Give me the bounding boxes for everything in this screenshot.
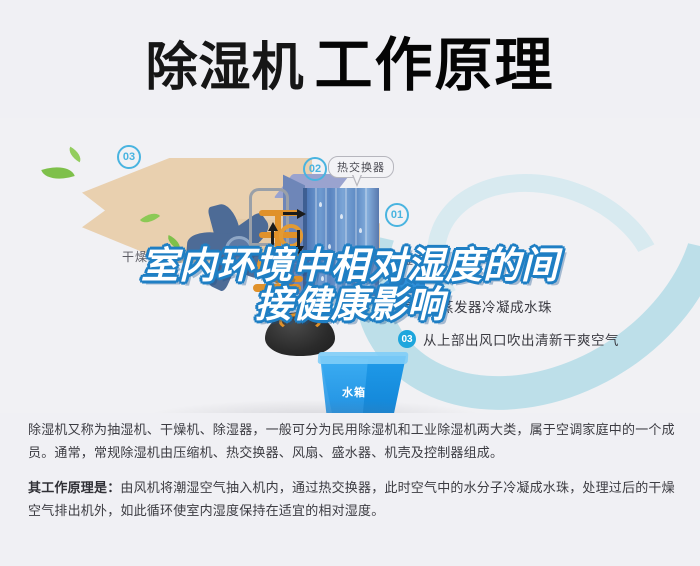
article-page: 除湿机 工作原理 [0, 0, 700, 566]
dehumidifier-diagram: 水箱 03 02 01 热交换器 干燥空气 潮湿空气 室内环境中相对湿度的间 接… [0, 118, 700, 413]
page-title-subject: 除湿机 [145, 25, 304, 100]
step-badge-01-diagram: 01 [385, 203, 409, 227]
overlay-headline-line2: 接健康影响 [0, 285, 700, 324]
paragraph-principle-rest: 由风机将潮湿空气抽入机内，通过热交换器，此时空气中的水分子冷凝成水珠，处理过后的… [28, 480, 675, 518]
machine-shadow [150, 400, 480, 413]
overlay-headline: 室内环境中相对湿度的间 接健康影响 [0, 246, 700, 324]
page-title: 除湿机 工作原理 [145, 18, 554, 102]
step-item: 03 从上部出风口吹出清新干爽空气 [398, 329, 698, 349]
page-title-topic: 工作原理 [315, 18, 555, 102]
page-header: 除湿机 工作原理 [0, 0, 700, 120]
step-text: 从上部出风口吹出清新干爽空气 [423, 329, 619, 349]
step-badge-02-diagram: 02 [303, 157, 327, 181]
paragraph-principle: 其工作原理是：由风机将潮湿空气抽入机内，通过热交换器，此时空气中的水分子冷凝成水… [28, 476, 678, 522]
step-badge-03-diagram: 03 [117, 145, 141, 169]
overlay-headline-line1: 室内环境中相对湿度的间 [0, 246, 700, 285]
paragraph-intro: 除湿机又称为抽湿机、干燥机、除湿器，一般可分为民用除湿机和工业除湿机两大类，属于… [28, 418, 678, 464]
article-body: 除湿机又称为抽湿机、干燥机、除湿器，一般可分为民用除湿机和工业除湿机两大类，属于… [28, 418, 678, 534]
paragraph-principle-lead: 其工作原理是： [28, 480, 120, 495]
water-tank-label: 水箱 [342, 384, 366, 400]
step-badge: 03 [398, 330, 416, 348]
